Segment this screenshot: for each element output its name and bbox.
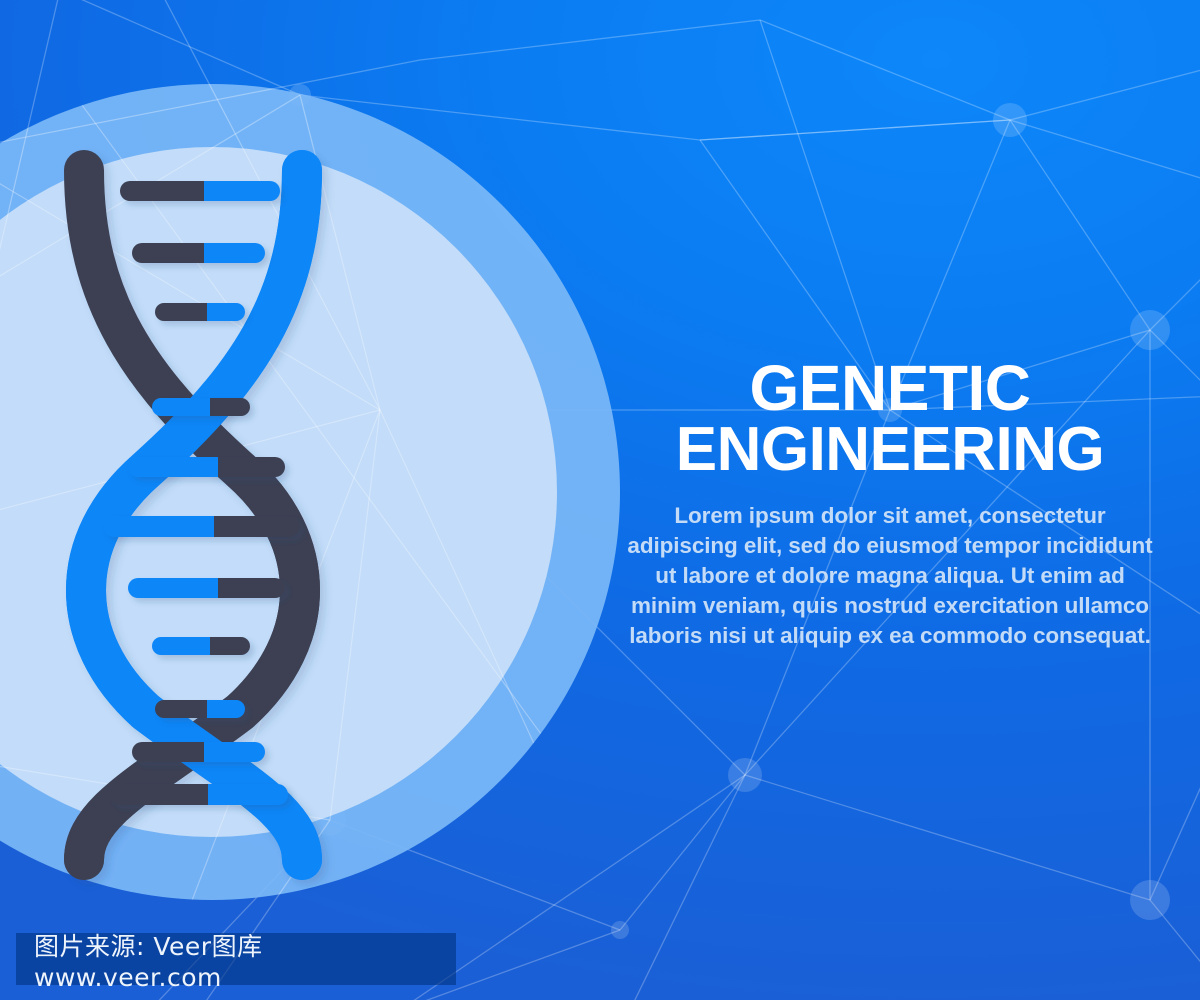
title-line-1: GENETIC [620, 357, 1160, 419]
rung [128, 457, 285, 477]
rung [104, 516, 300, 537]
rung [155, 700, 245, 718]
rung [110, 784, 288, 805]
rung [155, 303, 245, 321]
rung [152, 398, 250, 416]
rung [128, 578, 285, 598]
poster-canvas: GENETIC ENGINEERING Lorem ipsum dolor si… [0, 0, 1200, 1000]
title-line-2: ENGINEERING [620, 420, 1160, 480]
rung [152, 637, 250, 655]
rung [132, 243, 265, 263]
rung [132, 742, 265, 762]
text-block: GENETIC ENGINEERING Lorem ipsum dolor si… [620, 336, 1160, 673]
page-title: GENETIC ENGINEERING [620, 357, 1160, 479]
watermark-text: 图片来源: Veer图库 www.veer.com [16, 927, 456, 992]
body-paragraph: Lorem ipsum dolor sit amet, consectetur … [620, 501, 1160, 651]
watermark-bar: 图片来源: Veer图库 www.veer.com [16, 933, 456, 985]
rung [120, 181, 280, 201]
